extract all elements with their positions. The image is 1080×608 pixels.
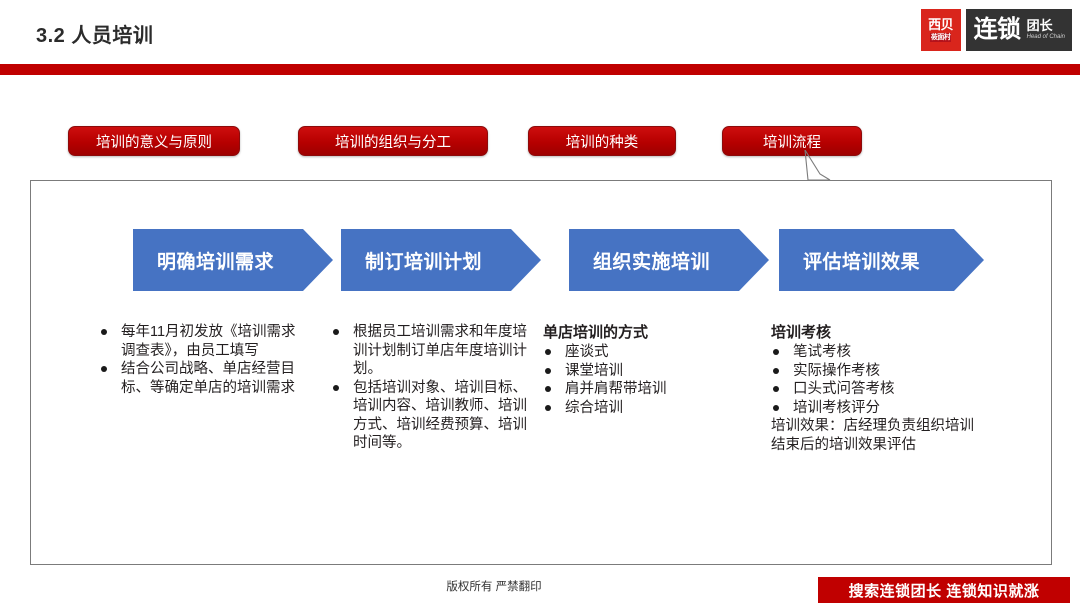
detail-bullet-list: 座谈式课堂培训肩并肩帮带培训综合培训 [543, 343, 758, 417]
detail-bullet-list: 每年11月初发放《培训需求调查表》，由员工填写结合公司战略、单店经营目标、等确定… [99, 323, 299, 397]
list-item-label: 每年11月初发放《培训需求调查表》，由员工填写 [121, 324, 296, 359]
list-item: 包括培训对象、培训目标、培训内容、培训教师、培训方式、培训经费预算、培训时间等。 [331, 379, 531, 453]
xibei-logo-mark: 西贝 莜面村 [921, 9, 961, 51]
lianchuan-logo-english-text: Head of Chain [1027, 33, 1065, 41]
footer-copyright-text: 版权所有 严禁翻印 [446, 581, 541, 593]
bullet-dot-icon [333, 329, 339, 335]
content-panel: 明确培训需求制订培训计划组织实施培训评估培训效果 每年11月初发放《培训需求调查… [30, 180, 1052, 565]
lianchuan-logo-sub-text: 团长 [1027, 19, 1065, 33]
bullet-dot-icon [545, 386, 551, 392]
section-tab-0[interactable]: 培训的意义与原则 [68, 126, 240, 156]
detail-column-0: 每年11月初发放《培训需求调查表》，由员工填写结合公司战略、单店经营目标、等确定… [99, 323, 299, 397]
process-step-3: 评估培训效果 [779, 229, 984, 291]
section-tab-bar: 培训的意义与原则培训的组织与分工培训的种类培训流程 [0, 126, 1080, 158]
list-item-label: 座谈式 [565, 344, 609, 360]
process-step-0: 明确培训需求 [133, 229, 333, 291]
header-red-rule [0, 64, 1080, 75]
bullet-dot-icon [545, 368, 551, 374]
list-item-label: 培训考核评分 [793, 400, 880, 416]
xibei-logo-top-text: 西贝 [928, 18, 953, 32]
process-step-label: 制订培训计划 [365, 247, 482, 274]
detail-column-heading: 单店培训的方式 [543, 323, 758, 342]
page-title: 3.2 人员培训 [36, 19, 153, 48]
list-item: 笔试考核 [771, 343, 986, 362]
section-tab-label: 培训的意义与原则 [96, 131, 212, 152]
list-item: 肩并肩帮带培训 [543, 380, 758, 399]
brand-logo: 西贝 莜面村 连锁 团长 Head of Chain [921, 9, 1072, 51]
process-chevron-row: 明确培训需求制订培训计划组织实施培训评估培训效果 [31, 229, 1053, 291]
list-item: 培训考核评分 [771, 399, 986, 418]
list-item: 座谈式 [543, 343, 758, 362]
section-tab-2[interactable]: 培训的种类 [528, 126, 676, 156]
lianchuan-logo-mark: 连锁 团长 Head of Chain [966, 9, 1072, 51]
list-item: 结合公司战略、单店经营目标、等确定单店的培训需求 [99, 360, 299, 397]
bullet-dot-icon [101, 329, 107, 335]
bullet-dot-icon [773, 386, 779, 392]
list-item-label: 笔试考核 [793, 344, 851, 360]
list-item: 根据员工培训需求和年度培训计划制订单店年度培训计划。 [331, 323, 531, 379]
section-tab-label: 培训的种类 [566, 131, 639, 152]
lianchuan-logo-main-text: 连锁 [974, 17, 1021, 43]
detail-bullet-list: 笔试考核实际操作考核口头式问答考核培训考核评分 [771, 343, 986, 417]
list-item-label: 结合公司战略、单店经营目标、等确定单店的培训需求 [121, 361, 295, 396]
bullet-dot-icon [333, 385, 339, 391]
xibei-logo-bottom-text: 莜面村 [930, 33, 952, 42]
list-item-label: 实际操作考核 [793, 363, 880, 379]
bullet-dot-icon [773, 349, 779, 355]
list-item: 每年11月初发放《培训需求调查表》，由员工填写 [99, 323, 299, 360]
section-tab-label: 培训流程 [763, 131, 821, 152]
detail-column-2: 单店培训的方式座谈式课堂培训肩并肩帮带培训综合培训 [543, 323, 758, 417]
list-item: 口头式问答考核 [771, 380, 986, 399]
list-item: 综合培训 [543, 399, 758, 418]
lianchuan-logo-side: 团长 Head of Chain [1027, 19, 1065, 41]
list-item: 实际操作考核 [771, 362, 986, 381]
process-step-2: 组织实施培训 [569, 229, 769, 291]
list-item-label: 肩并肩帮带培训 [565, 381, 667, 397]
footer-promo-banner[interactable]: 搜索连锁团长 连锁知识就涨 [818, 577, 1070, 603]
list-item: 课堂培训 [543, 362, 758, 381]
list-item-label: 包括培训对象、培训目标、培训内容、培训教师、培训方式、培训经费预算、培训时间等。 [353, 380, 527, 452]
list-item-label: 根据员工培训需求和年度培训计划制订单店年度培训计划。 [353, 324, 527, 377]
detail-column-heading: 培训考核 [771, 323, 986, 342]
slide-header: 3.2 人员培训 西贝 莜面村 连锁 团长 Head of Chain [0, 0, 1080, 64]
process-step-label: 评估培训效果 [803, 247, 920, 274]
bullet-dot-icon [773, 368, 779, 374]
section-tab-1[interactable]: 培训的组织与分工 [298, 126, 488, 156]
process-step-label: 组织实施培训 [593, 247, 710, 274]
bullet-dot-icon [101, 366, 107, 372]
list-item-label: 口头式问答考核 [793, 381, 895, 397]
detail-column-3: 培训考核笔试考核实际操作考核口头式问答考核培训考核评分培训效果：店经理负责组织培… [771, 323, 986, 454]
footer-promo-text: 搜索连锁团长 连锁知识就涨 [849, 580, 1040, 601]
process-step-1: 制订培训计划 [341, 229, 541, 291]
detail-bullet-list: 根据员工培训需求和年度培训计划制订单店年度培训计划。包括培训对象、培训目标、培训… [331, 323, 531, 453]
section-tab-label: 培训的组织与分工 [335, 131, 451, 152]
list-item-label: 综合培训 [565, 400, 623, 416]
process-step-label: 明确培训需求 [157, 247, 274, 274]
list-item-label: 课堂培训 [565, 363, 623, 379]
bullet-dot-icon [545, 405, 551, 411]
bullet-dot-icon [545, 349, 551, 355]
detail-column-paragraph: 培训效果：店经理负责组织培训结束后的培训效果评估 [771, 417, 986, 454]
bullet-dot-icon [773, 405, 779, 411]
detail-column-1: 根据员工培训需求和年度培训计划制订单店年度培训计划。包括培训对象、培训目标、培训… [331, 323, 531, 453]
